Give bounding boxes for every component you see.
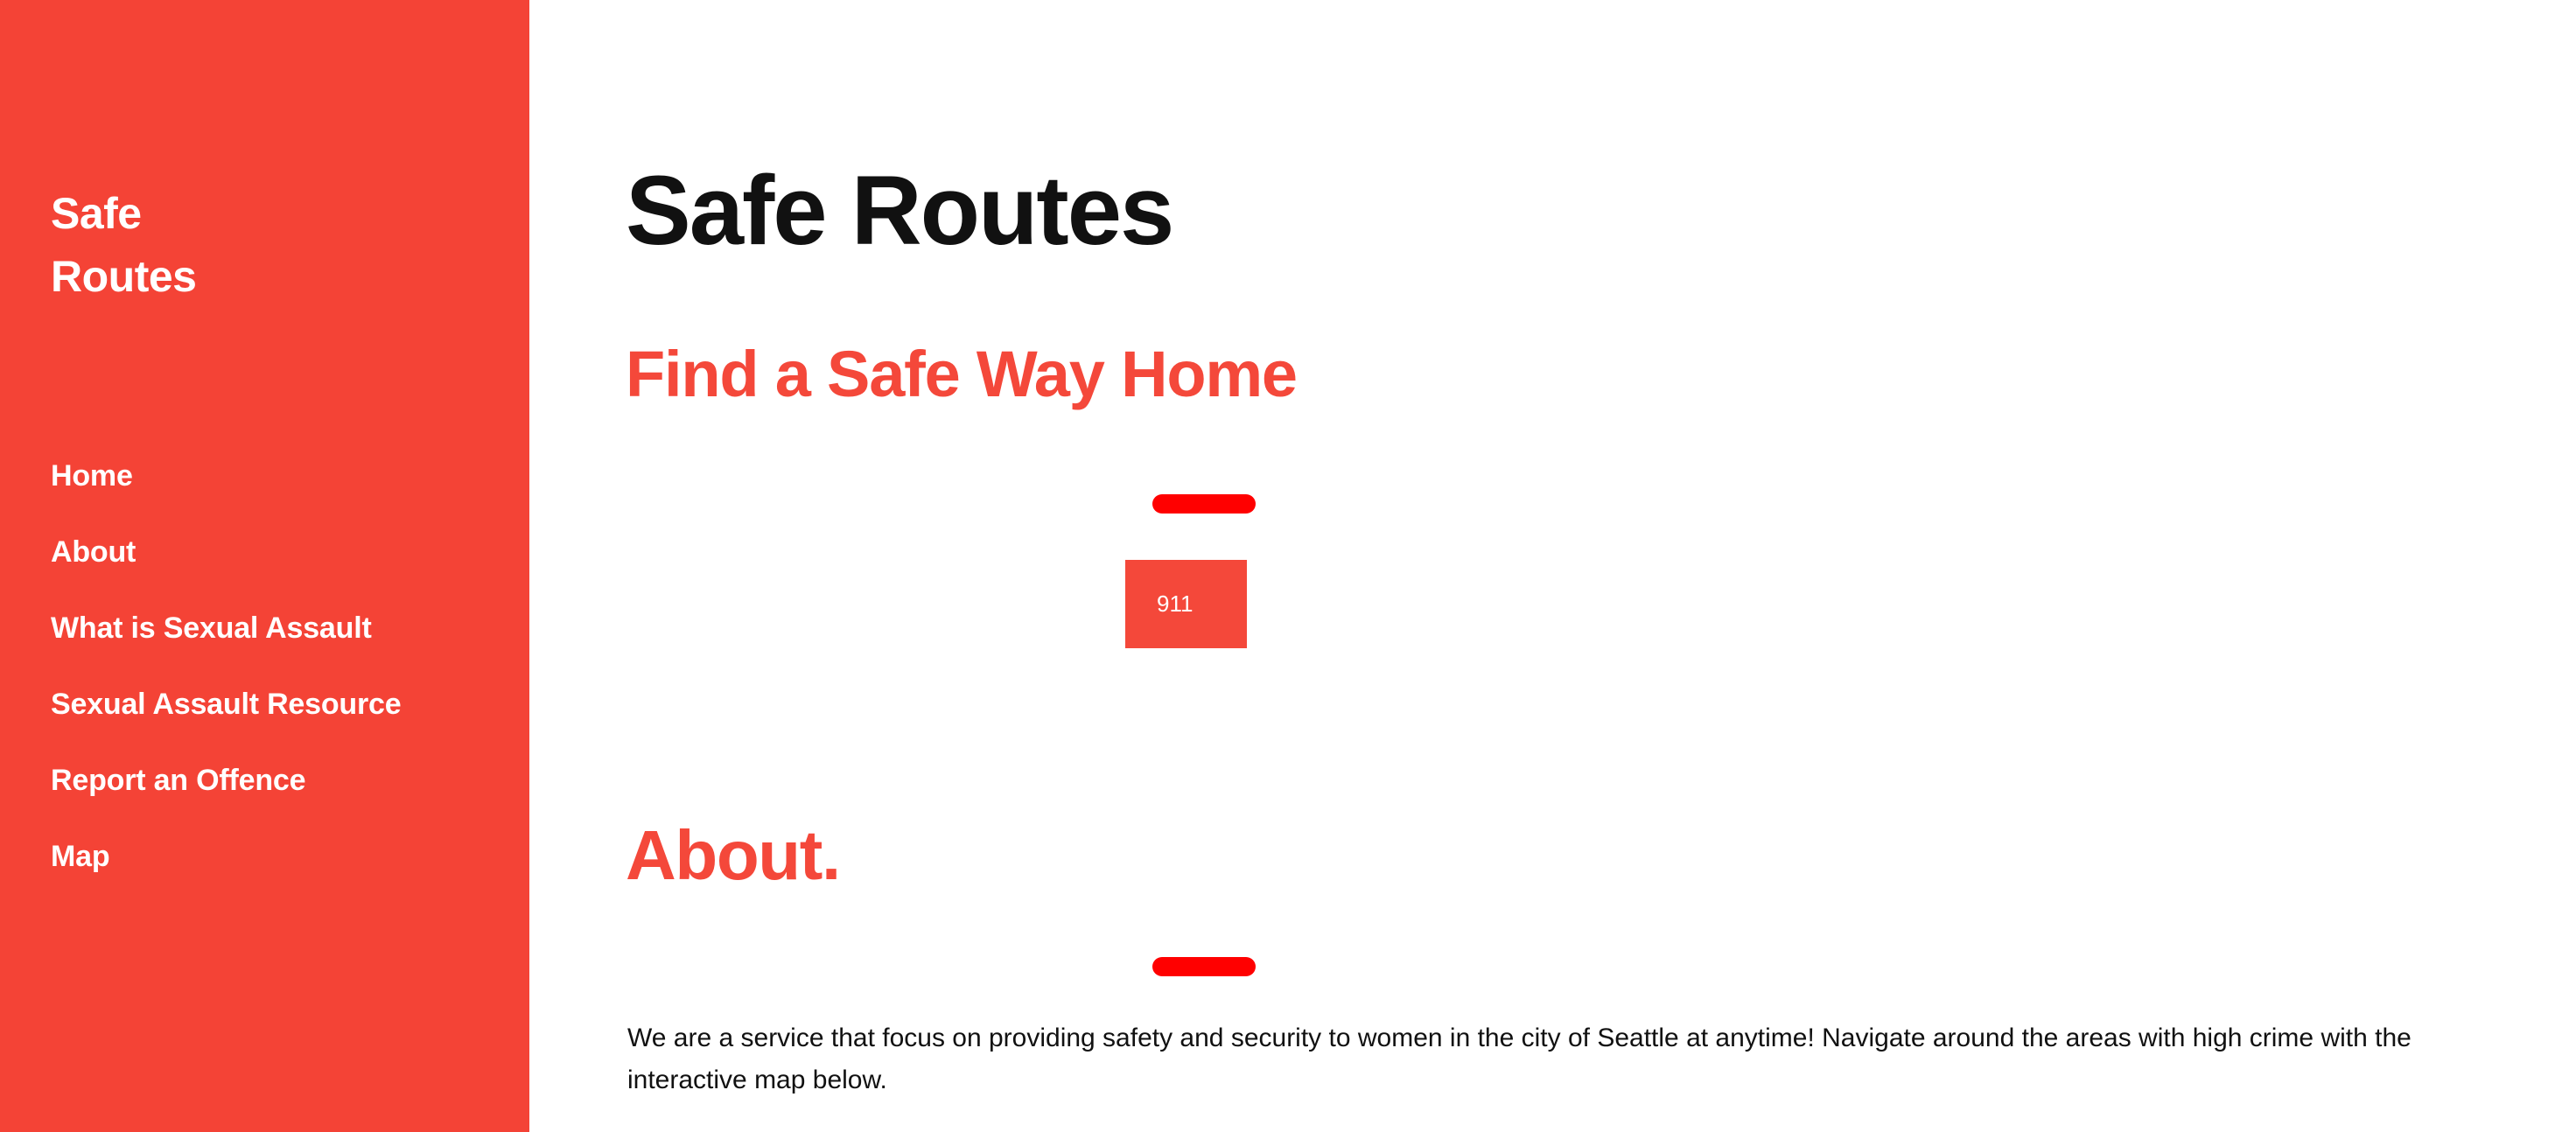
sidebar-item-home[interactable]: Home <box>51 456 401 496</box>
about-section-heading: About. <box>626 815 840 896</box>
sidebar-item-about[interactable]: About <box>51 532 401 572</box>
about-divider-rule <box>1152 957 1256 976</box>
page-title: Safe Routes <box>626 156 1172 265</box>
sidebar-item-map[interactable]: Map <box>51 836 401 877</box>
sidebar-item-what-is-sexual-assault[interactable]: What is Sexual Assault <box>51 608 401 648</box>
hero-divider-rule <box>1152 494 1256 514</box>
sidebar-item-sexual-assault-resource[interactable]: Sexual Assault Resource <box>51 684 401 724</box>
main-content: Safe Routes Find a Safe Way Home 911 Abo… <box>529 0 2576 1132</box>
about-section-body: We are a service that focus on providing… <box>627 1017 2517 1101</box>
page-root: Safe Routes Home About What is Sexual As… <box>0 0 2576 1132</box>
hero-subtitle: Find a Safe Way Home <box>626 337 1297 411</box>
sidebar-item-report-an-offence[interactable]: Report an Offence <box>51 760 401 800</box>
sidebar-brand-title: Safe Routes <box>51 182 339 308</box>
sidebar-nav: Home About What is Sexual Assault Sexual… <box>51 456 401 877</box>
sidebar: Safe Routes Home About What is Sexual As… <box>0 0 529 1132</box>
emergency-call-911-button[interactable]: 911 <box>1125 560 1247 648</box>
